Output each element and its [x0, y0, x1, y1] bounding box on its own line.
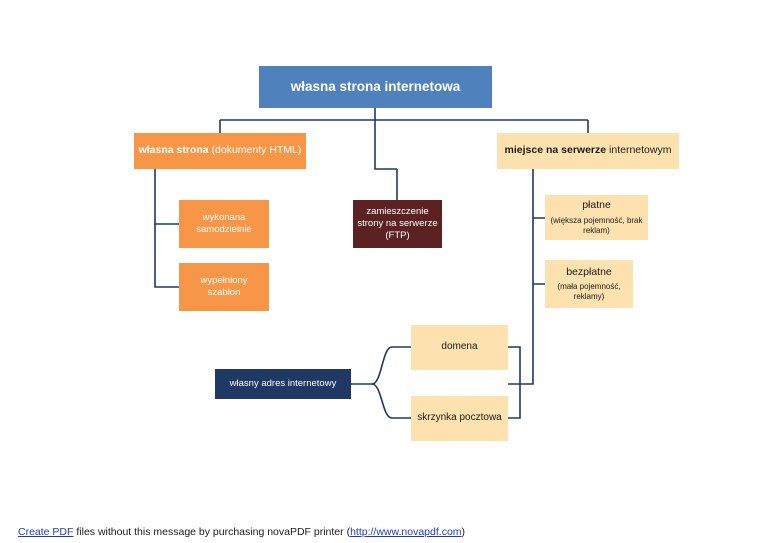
line-brace-top — [372, 347, 411, 384]
node-paid-head: płatne — [582, 199, 611, 212]
create-pdf-link[interactable]: Create PDF — [18, 526, 73, 538]
node-free: bezpłatne (mała pojemność, reklamy) — [545, 260, 633, 308]
node-domain-label: domena — [437, 341, 481, 354]
line-brace-bottom — [372, 384, 411, 418]
node-free-head: bezpłatne — [566, 266, 612, 279]
node-own-page-label-rest: (dokumenty HTML) — [209, 144, 302, 156]
node-own-page-label-bold: własna strona — [139, 144, 209, 156]
node-domain: domena — [411, 325, 508, 370]
novapdf-url-link[interactable]: http://www.novapdf.com — [350, 526, 461, 538]
diagram-canvas: własna strona internetowa własna strona … — [0, 0, 768, 543]
node-own-page-label: własna strona (dokumenty HTML) — [135, 144, 306, 157]
node-own-page: własna strona (dokumenty HTML) — [134, 133, 306, 169]
node-root-label: własna strona internetowa — [287, 79, 465, 96]
node-ftp: zamieszczenie strony na serwerze (FTP) — [353, 200, 442, 248]
line-center-to-ftp — [375, 120, 397, 169]
node-paid: płatne (większa pojemność, brak reklam) — [545, 195, 648, 240]
line-server-to-paid — [533, 169, 545, 218]
node-mailbox-label: skrzynka pocztowa — [413, 412, 505, 425]
node-filled-template-label: wypełniony szablon — [179, 275, 269, 299]
node-free-sub: (mała pojemność, reklamy) — [545, 282, 633, 302]
line-own-to-self — [155, 169, 179, 224]
node-server-space-label-rest: internetowym — [606, 144, 671, 156]
line-server-to-address-branch — [508, 284, 533, 384]
line-mailbox-to-right — [508, 384, 520, 418]
node-mailbox: skrzynka pocztowa — [411, 396, 508, 441]
footer-end-text: ) — [462, 526, 466, 538]
node-server-space-label: miejsce na serwerze internetowym — [501, 144, 676, 157]
node-filled-template: wypełniony szablon — [179, 263, 269, 311]
node-server-space-label-bold: miejsce na serwerze — [505, 144, 607, 156]
node-own-address: własny adres internetowy — [215, 369, 351, 399]
novapdf-footer: Create PDF files without this message by… — [18, 526, 465, 538]
node-self-made-label: wykonana samodzielnie — [179, 212, 269, 236]
node-own-address-label: własny adres internetowy — [226, 378, 341, 390]
footer-middle-text: files without this message by purchasing… — [73, 526, 350, 538]
node-paid-sub: (większa pojemność, brak reklam) — [545, 216, 648, 236]
node-ftp-label: zamieszczenie strony na serwerze (FTP) — [353, 206, 442, 242]
line-server-to-free — [533, 218, 545, 284]
node-root: własna strona internetowa — [259, 66, 492, 108]
node-server-space: miejsce na serwerze internetowym — [497, 133, 679, 169]
line-domain-to-right — [508, 347, 520, 384]
node-self-made: wykonana samodzielnie — [179, 200, 269, 248]
line-own-to-template — [155, 224, 179, 287]
